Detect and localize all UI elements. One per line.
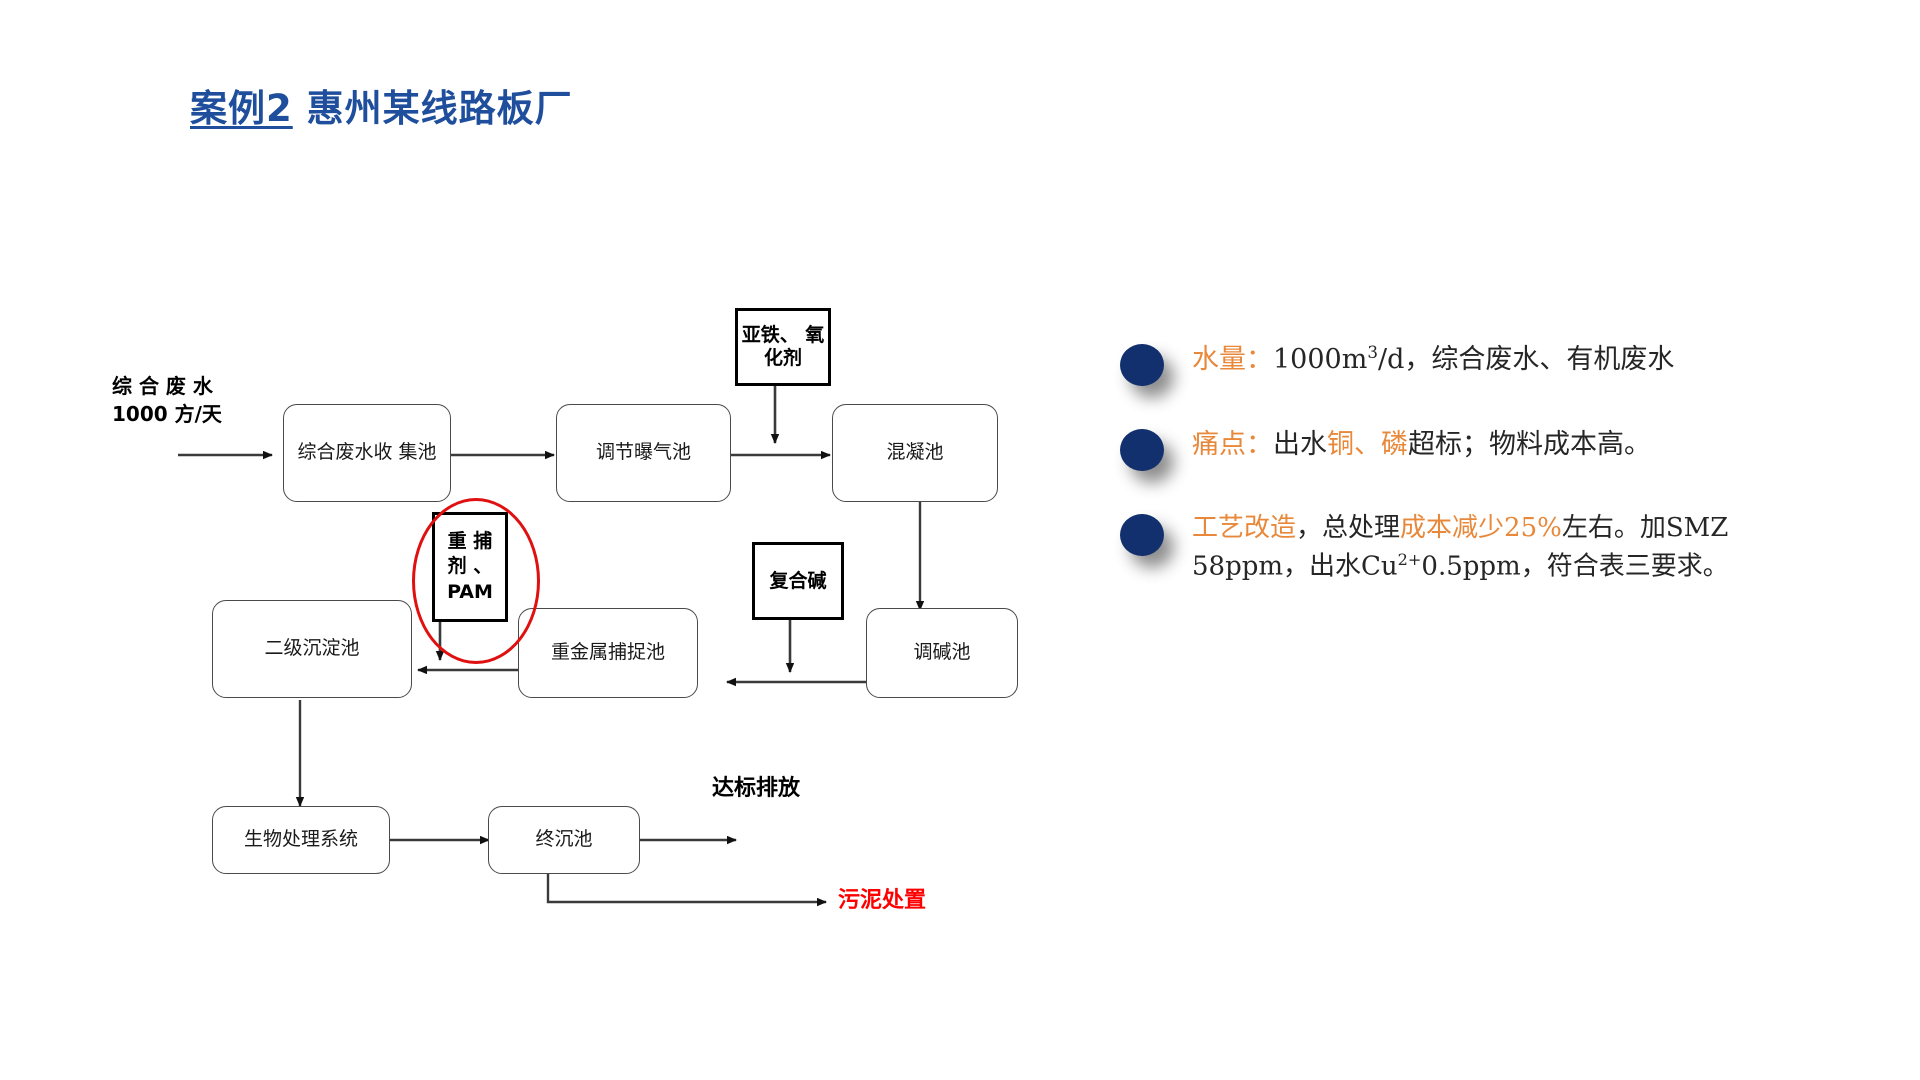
bullet-dot-icon [1120,429,1164,471]
bullet-pain-point: 痛点：出水铜、磷超标；物料成本高。 [1120,425,1880,464]
inflow-label: 综 合 废 水 1000 方/天 [112,372,222,428]
bullet-process-upgrade: 工艺改造，总处理成本减少25%左右。加SMZ58ppm，出水Cu2+0.5ppm… [1120,510,1880,586]
node-alkali-pool[interactable]: 调碱池 [866,608,1018,698]
bullet-process-upgrade-text: 工艺改造，总处理成本减少25%左右。加SMZ58ppm，出水Cu2+0.5ppm… [1192,510,1880,586]
bullet-dot-icon [1120,344,1164,386]
bullet-dot-icon [1120,514,1164,556]
reagent-pam[interactable]: 重 捕 剂 、 PAM [432,512,508,622]
node-coagulation-pool[interactable]: 混凝池 [832,404,998,502]
bullet-water-volume-text: 水量：1000m3/d，综合废水、有机废水 [1192,340,1880,379]
slide-canvas: 案例2 惠州某线路板厂 [0,0,1920,1080]
output-discharge-label: 达标排放 [712,770,800,802]
bullet-pain-point-text: 痛点：出水铜、磷超标；物料成本高。 [1192,425,1880,464]
reagent-composite-base[interactable]: 复合碱 [752,542,844,620]
output-sludge-label: 污泥处置 [838,882,926,914]
process-flow-diagram: 综 合 废 水 1000 方/天 综合废水收 集池 调节曝气池 混凝池 调碱池 … [0,0,1100,1080]
bullet-water-volume: 水量：1000m3/d，综合废水、有机废水 [1120,340,1880,379]
node-final-sedimentation[interactable]: 终沉池 [488,806,640,874]
node-collect-pool[interactable]: 综合废水收 集池 [283,404,451,502]
diagram-connectors [0,0,1100,1080]
node-secondary-sedimentation[interactable]: 二级沉淀池 [212,600,412,698]
node-bio-treatment[interactable]: 生物处理系统 [212,806,390,874]
reagent-ferrous-oxidant[interactable]: 亚铁、 氧化剂 [735,308,831,386]
node-aeration-pool[interactable]: 调节曝气池 [556,404,731,502]
summary-panel: 水量：1000m3/d，综合废水、有机废水 痛点：出水铜、磷超标；物料成本高。 … [1120,340,1880,632]
node-metal-capture-pool[interactable]: 重金属捕捉池 [518,608,698,698]
